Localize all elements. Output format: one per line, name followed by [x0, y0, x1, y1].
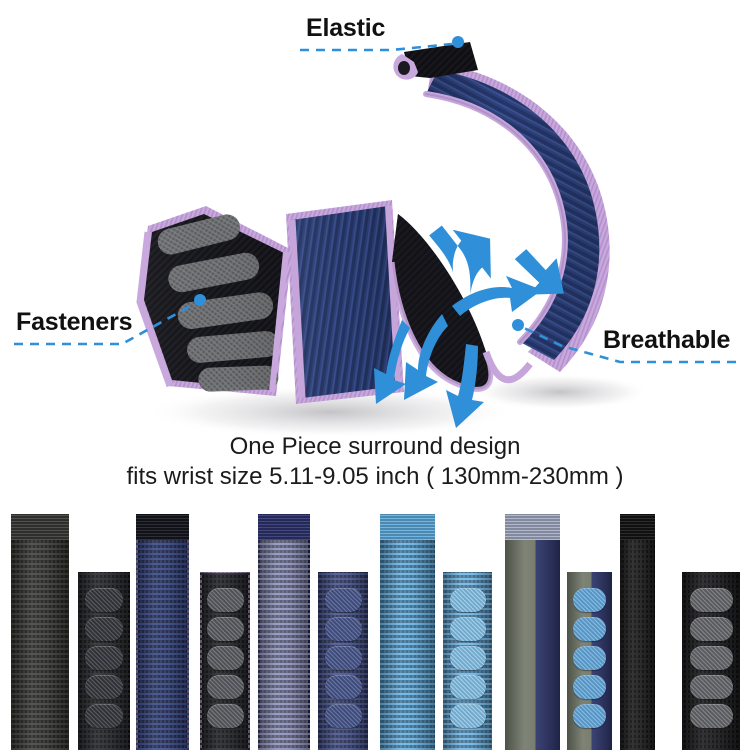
fastener-pad [690, 675, 733, 699]
product-infographic: Elastic Fasteners Breathable One Piece s… [0, 0, 750, 750]
variant-strip-navy-lilac[interactable] [136, 514, 189, 750]
strip-fastener-pads [200, 572, 250, 750]
fastener-pad [85, 675, 123, 699]
fastener-pad [207, 704, 244, 728]
fastener-pad [690, 617, 733, 641]
strip-tip [620, 514, 655, 540]
strip-tip [136, 514, 189, 540]
caption-line-2: fits wrist size 5.11-9.05 inch ( 130mm-2… [0, 462, 750, 492]
fastener-pad [450, 588, 486, 612]
fastener-pad [207, 588, 244, 612]
strip-fastener-pads [567, 572, 612, 750]
fastener-pad [325, 588, 362, 612]
fastener-pad [450, 704, 486, 728]
callout-label-elastic: Elastic [306, 16, 385, 41]
fastener-pad [85, 588, 123, 612]
callout-connectors [0, 0, 750, 500]
strip-shading [11, 514, 69, 750]
variant-strip-black[interactable] [11, 514, 69, 750]
strip-fastener-pads [443, 572, 492, 750]
fastener-pad [325, 646, 362, 670]
color-variant-strips [0, 495, 750, 750]
elastic-dot [452, 36, 464, 48]
breathable-dot [512, 319, 524, 331]
callout-label-breathable: Breathable [603, 328, 730, 353]
fastener-pad [450, 646, 486, 670]
fastener-pad [573, 617, 606, 641]
variant-strip-olive-navy-fast[interactable] [567, 572, 612, 750]
fastener-pad [690, 588, 733, 612]
variant-strip-light-blue[interactable] [380, 514, 435, 750]
variant-strip-black-tall-2[interactable] [620, 514, 655, 750]
fastener-pad [207, 646, 244, 670]
product-caption: One Piece surround design fits wrist siz… [0, 432, 750, 492]
variant-strip-light-blue-fast[interactable] [443, 572, 492, 750]
callout-label-fasteners: Fasteners [16, 310, 132, 335]
strip-shading [258, 514, 310, 750]
fastener-pad [690, 646, 733, 670]
strip-tip [258, 514, 310, 540]
fastener-pad [207, 675, 244, 699]
variant-strip-black-fastener[interactable] [78, 572, 130, 750]
fastener-pad [85, 617, 123, 641]
fastener-pad [450, 617, 486, 641]
strip-tip [505, 514, 560, 540]
fastener-pad [573, 646, 606, 670]
strip-shading [380, 514, 435, 750]
strip-fastener-pads [682, 572, 740, 750]
fastener-pad [85, 704, 123, 728]
variant-strip-lavender-fastener[interactable] [318, 572, 368, 750]
variant-strip-navy-fastener[interactable] [200, 572, 250, 750]
strip-fastener-pads [78, 572, 130, 750]
fastener-pad [573, 675, 606, 699]
caption-line-1: One Piece surround design [230, 433, 521, 460]
fastener-pad [690, 704, 733, 728]
fastener-pad [207, 617, 244, 641]
fastener-pad [85, 646, 123, 670]
strip-tip [11, 514, 69, 540]
fastener-pad [573, 588, 606, 612]
variant-strip-lavender[interactable] [258, 514, 310, 750]
variant-strip-black-fastener-2[interactable] [682, 572, 740, 750]
fastener-pad [450, 675, 486, 699]
fastener-pad [325, 704, 362, 728]
fasteners-dot [194, 294, 206, 306]
fastener-pad [325, 675, 362, 699]
strip-shading [505, 514, 560, 750]
variant-strip-olive-navy[interactable] [505, 514, 560, 750]
strip-fastener-pads [318, 572, 368, 750]
strip-shading [620, 514, 655, 750]
fastener-pad [325, 617, 362, 641]
watch-band-illustration: Elastic Fasteners Breathable [0, 0, 750, 500]
strip-shading [136, 514, 189, 750]
strip-tip [380, 514, 435, 540]
fastener-pad [573, 704, 606, 728]
